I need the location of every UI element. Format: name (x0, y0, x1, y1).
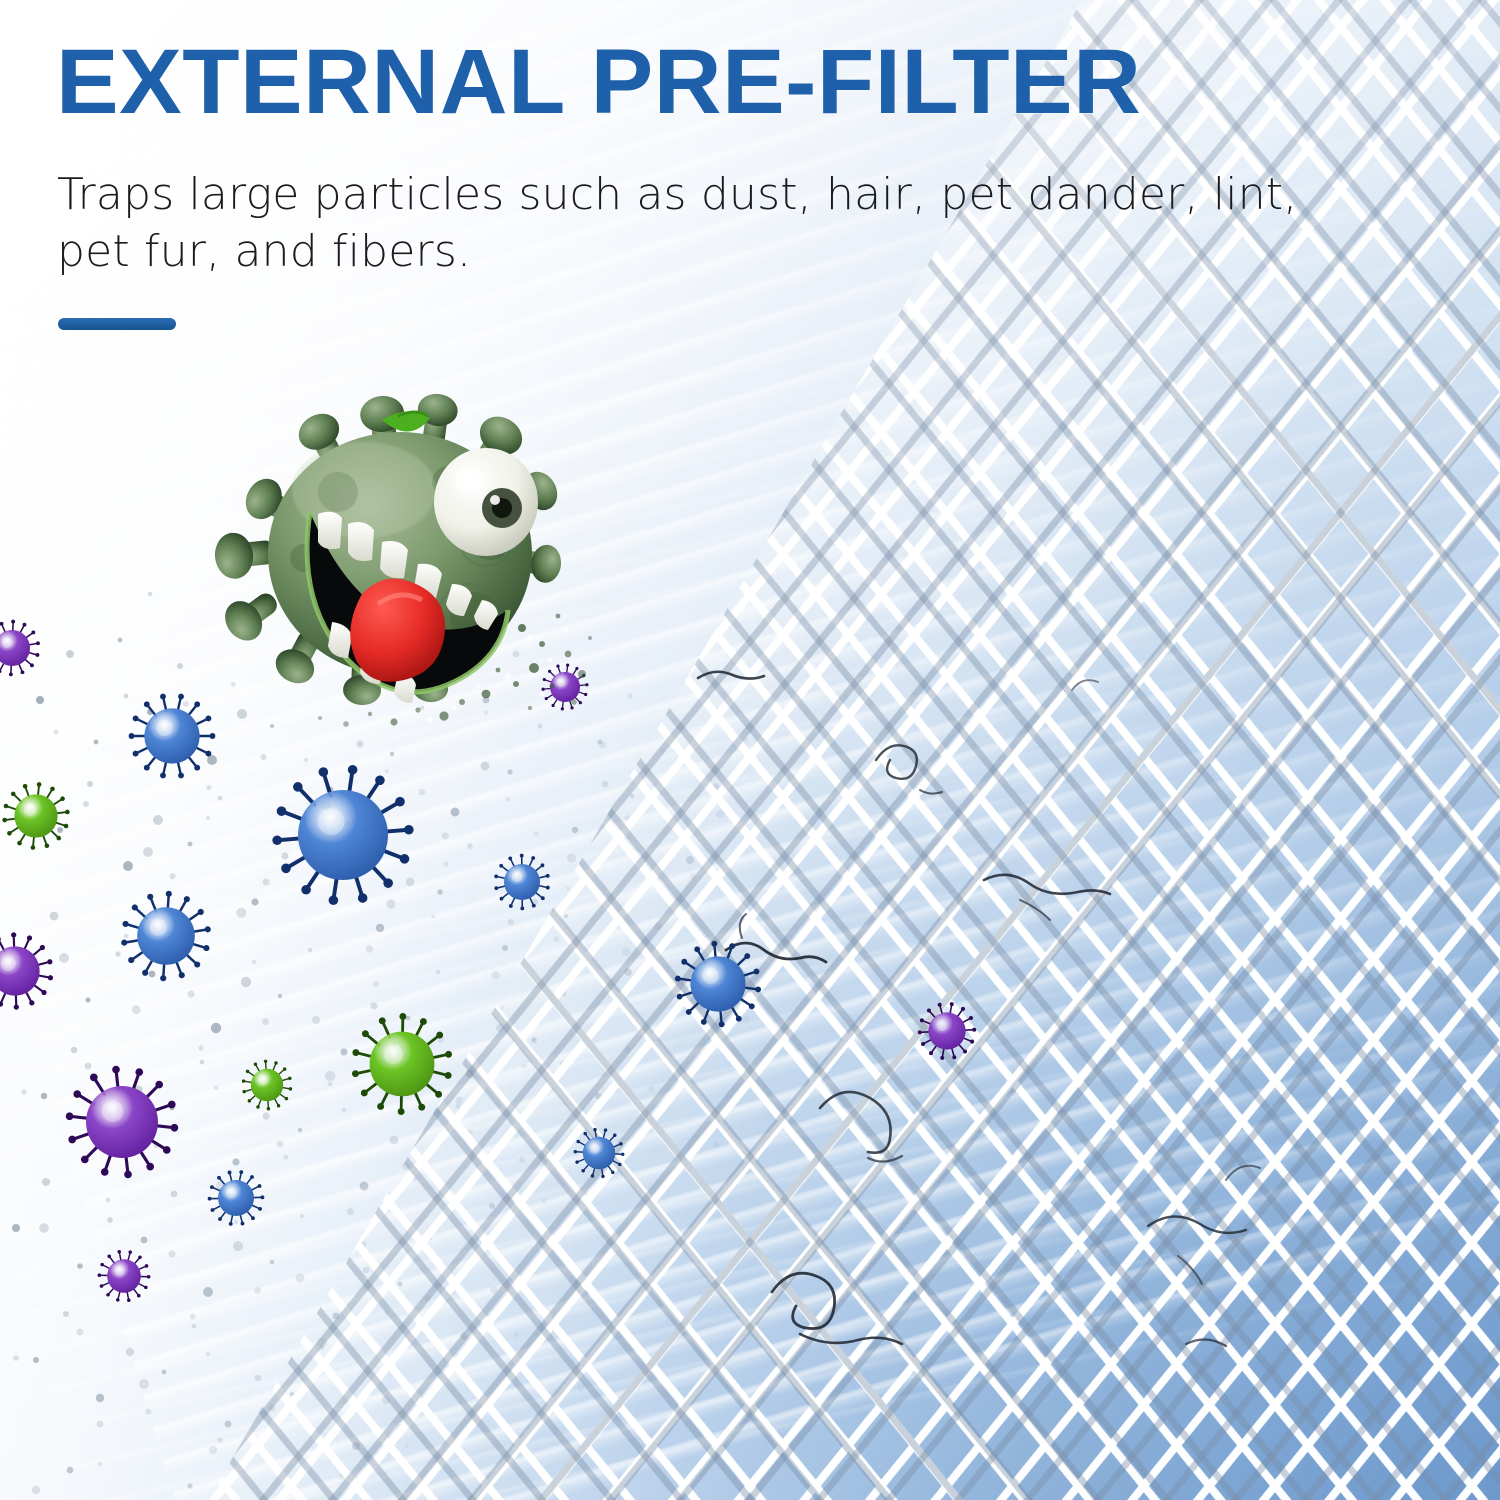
page-subtitle: Traps large particles such as dust, hair… (57, 166, 1347, 280)
germ-purple-2 (0, 618, 42, 678)
green-virus-monster (186, 372, 606, 732)
germ-green-1 (0, 780, 72, 852)
germ-green-2 (348, 1010, 456, 1118)
germ-purple-5 (96, 1248, 152, 1304)
germ-blue-3 (118, 888, 214, 984)
germ-blue-5 (672, 938, 764, 1030)
accent-divider (58, 318, 176, 330)
germ-purple-4 (62, 1062, 182, 1182)
page-title: EXTERNAL PRE-FILTER (56, 36, 1141, 128)
germ-blue-6 (572, 1126, 626, 1180)
germ-blue-2 (268, 760, 418, 910)
product-feature-banner: EXTERNAL PRE-FILTER Traps large particle… (0, 0, 1500, 1500)
germ-blue-4 (492, 852, 552, 912)
germ-blue-7 (206, 1168, 266, 1228)
germ-purple-6 (916, 1000, 978, 1062)
germ-green-3 (240, 1058, 294, 1112)
germ-purple-3 (0, 930, 56, 1012)
